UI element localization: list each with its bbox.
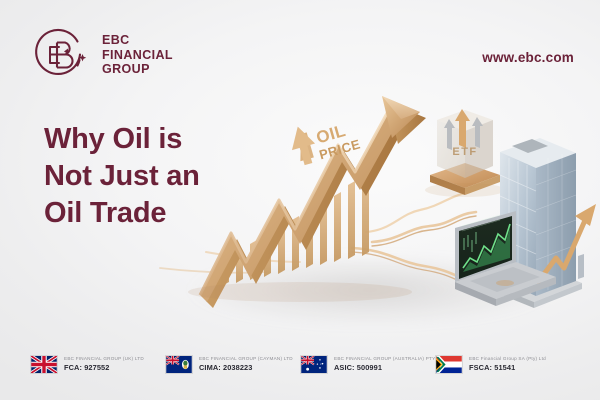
- etf-cube-object: ETF: [425, 109, 505, 197]
- flag-south-africa-icon: [435, 355, 463, 374]
- flag-australia-icon: [300, 355, 328, 374]
- hero-headline: Why Oil is Not Just an Oil Trade: [44, 121, 200, 232]
- oil-price-chart-object: [188, 96, 426, 308]
- regulator-item-south-africa: EBC Financial Group SA (Pty) Ltd FSCA: 5…: [435, 355, 570, 374]
- regulator-license: ASIC: 500991: [334, 363, 446, 373]
- regulator-company: EBC FINANCIAL GROUP (UK) LTD: [64, 355, 144, 362]
- regulator-license: CIMA: 2038223: [199, 363, 293, 373]
- oil-price-label: OIL PRICE: [286, 111, 362, 169]
- regulator-item-uk: EBC FINANCIAL GROUP (UK) LTD FCA: 927552: [30, 355, 165, 374]
- regulator-item-cayman: EBC FINANCIAL GROUP (CAYMAN) LTD CIMA: 2…: [165, 355, 300, 374]
- regulatory-footer: EBC FINANCIAL GROUP (UK) LTD FCA: 927552: [0, 328, 600, 400]
- flag-cayman-islands-icon: [165, 355, 193, 374]
- website-url[interactable]: www.ebc.com: [482, 50, 574, 65]
- brand-name: EBC FINANCIAL GROUP: [102, 33, 173, 77]
- regulator-license: FSCA: 51541: [469, 363, 546, 373]
- brand-logo[interactable]: EBC FINANCIAL GROUP: [33, 27, 173, 83]
- regulator-license: FCA: 927552: [64, 363, 144, 373]
- regulator-company: EBC Financial Group SA (Pty) Ltd: [469, 355, 546, 362]
- regulator-company: EBC FINANCIAL GROUP (CAYMAN) LTD: [199, 355, 293, 362]
- regulator-list: EBC FINANCIAL GROUP (UK) LTD FCA: 927552: [0, 355, 600, 374]
- ebc-circular-monogram-icon: [33, 27, 89, 83]
- banner-header: EBC FINANCIAL GROUP www.ebc.com: [0, 0, 600, 105]
- promotional-banner: ETF: [0, 0, 600, 400]
- regulator-company: EBC FINANCIAL GROUP (AUSTRALIA) PTY LTD: [334, 355, 446, 362]
- etf-cube-label: ETF: [452, 146, 477, 158]
- flag-uk-icon: [30, 355, 58, 374]
- regulator-item-australia: EBC FINANCIAL GROUP (AUSTRALIA) PTY LTD …: [300, 355, 435, 374]
